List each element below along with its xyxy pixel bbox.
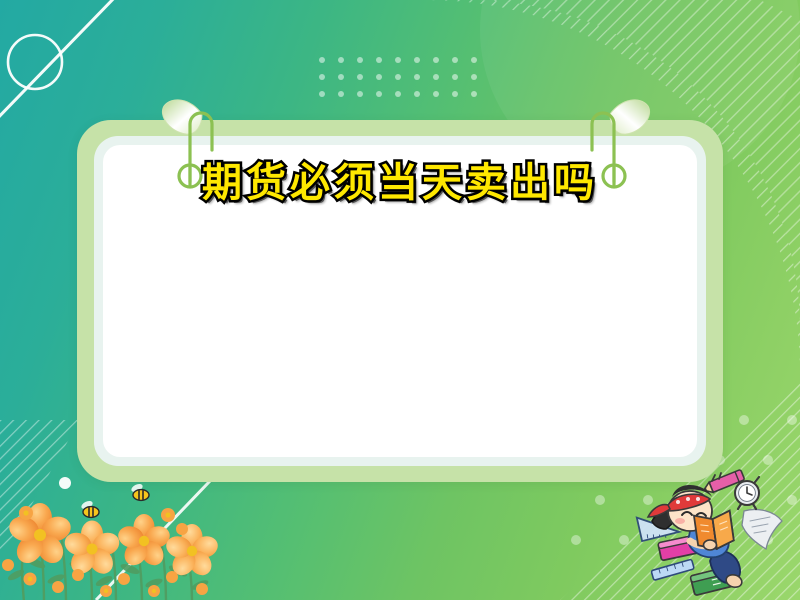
student-illustration-svg xyxy=(616,463,796,598)
slide-canvas: 期货必须当天卖出吗 xyxy=(0,0,800,600)
flowers-illustration-svg xyxy=(0,467,226,600)
hand xyxy=(704,540,717,550)
bee-body xyxy=(83,507,99,518)
paper-sheet-icon xyxy=(742,509,782,549)
leaf-icon xyxy=(162,100,202,134)
title-block: 期货必须当天卖出吗 xyxy=(0,150,800,208)
flower-blossom-large-2 xyxy=(62,521,122,579)
circle-outline-icon xyxy=(8,35,62,89)
leaf-icon xyxy=(610,100,650,134)
student-illustration xyxy=(616,463,796,598)
dot-grid-icon xyxy=(319,57,477,97)
flowers-illustration xyxy=(0,467,226,600)
bee-icon-right xyxy=(128,483,154,505)
blush xyxy=(675,518,685,524)
bee-body xyxy=(133,490,149,501)
page-title: 期货必须当天卖出吗 xyxy=(202,150,598,208)
diagonal-line-top-left xyxy=(0,0,118,126)
ruler-icon xyxy=(651,559,694,580)
bee-icon-left xyxy=(78,500,104,522)
